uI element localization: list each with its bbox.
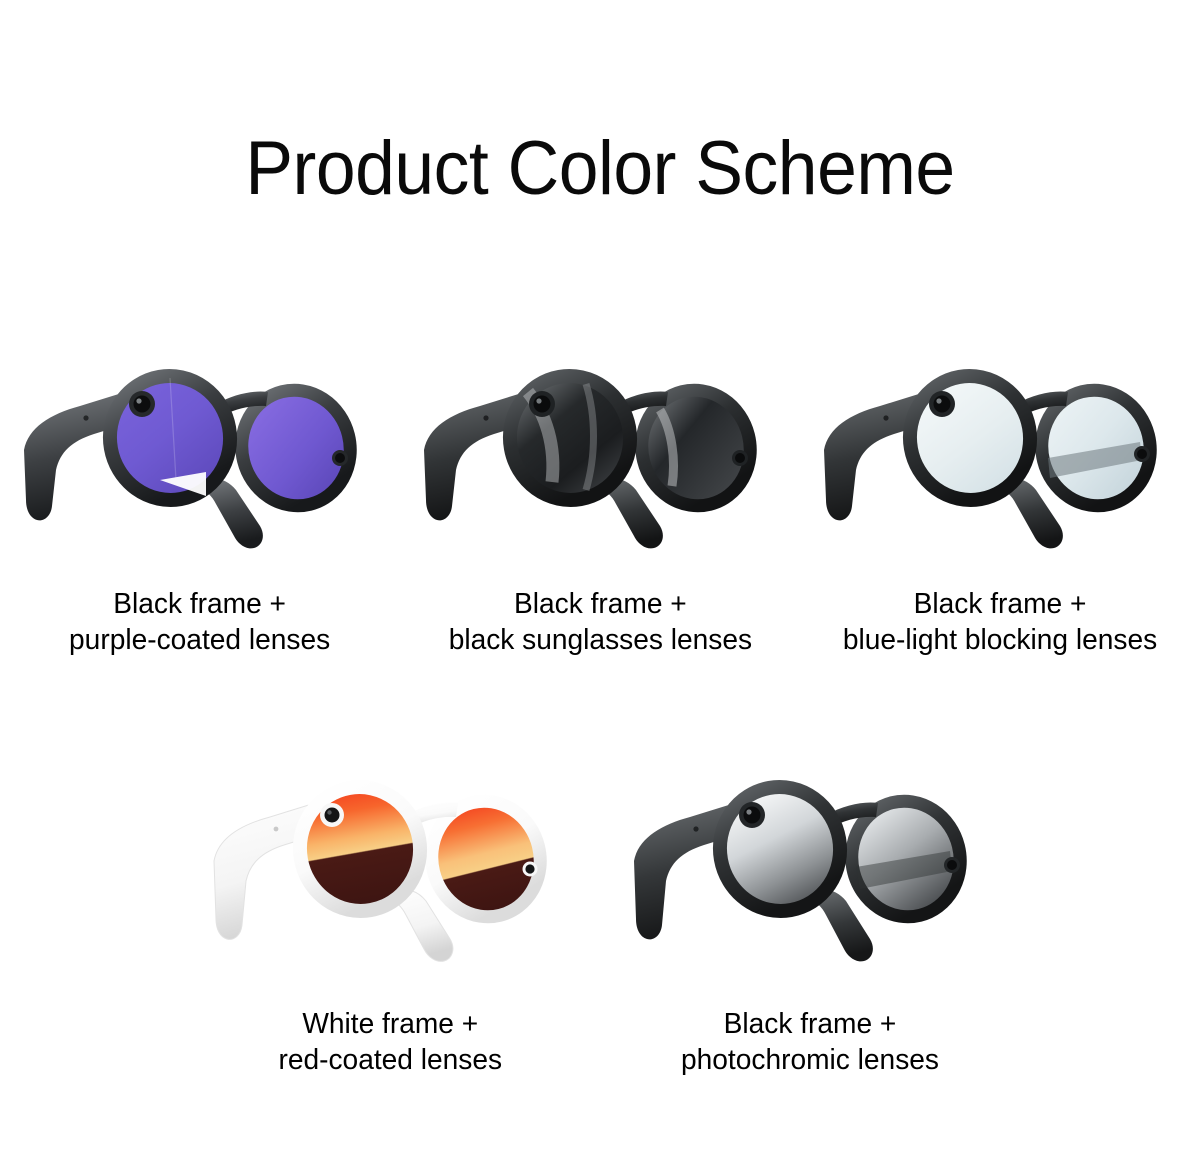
caption-line-2: blue-light blocking lenses (843, 622, 1157, 658)
camera-lens-secondary-icon (525, 864, 534, 873)
camera-lens-icon (744, 807, 761, 824)
camera-glint (327, 810, 331, 814)
product-card-black-photochromic[interactable]: Black frame + photochromic lenses (600, 735, 1020, 1078)
camera-lens-secondary-icon (735, 453, 745, 463)
mic-dot-icon (274, 827, 279, 832)
caption-line-1: White frame + (278, 1006, 502, 1042)
mic-dot-icon (483, 415, 488, 420)
page-title: Product Color Scheme (36, 126, 1164, 212)
camera-lens-icon (934, 396, 951, 413)
caption-line-1: Black frame + (681, 1006, 939, 1042)
product-caption-black-bluelight: Black frame + blue-light blocking lenses (843, 586, 1157, 658)
product-card-black-purple[interactable]: Black frame + purple-coated lenses (0, 330, 400, 658)
caption-line-1: Black frame + (843, 586, 1157, 622)
product-image-white-red (200, 735, 580, 1000)
camera-lens-secondary-icon (1137, 449, 1147, 459)
product-card-black-sunglasses[interactable]: Black frame + black sunglasses lenses (400, 330, 800, 658)
caption-line-1: Black frame + (69, 586, 330, 622)
camera-lens-icon (325, 808, 340, 823)
mic-dot-icon (83, 415, 88, 420)
camera-glint (136, 398, 141, 403)
product-image-black-sunglasses (410, 330, 790, 580)
product-image-black-purple (10, 330, 390, 580)
camera-lens-secondary-icon (335, 453, 345, 463)
product-caption-white-red: White frame + red-coated lenses (278, 1006, 502, 1078)
product-card-white-red[interactable]: White frame + red-coated lenses (180, 735, 600, 1078)
camera-lens-secondary-icon (947, 860, 957, 870)
product-card-black-bluelight[interactable]: Black frame + blue-light blocking lenses (800, 330, 1200, 658)
product-row-top: Black frame + purple-coated lenses (0, 330, 1200, 658)
mic-dot-icon (693, 826, 698, 831)
camera-lens-icon (534, 396, 551, 413)
camera-lens-icon (134, 396, 151, 413)
caption-line-1: Black frame + (448, 586, 751, 622)
caption-line-2: purple-coated lenses (69, 622, 330, 658)
camera-glint (936, 398, 941, 403)
camera-glint (746, 809, 751, 814)
product-caption-black-photochromic: Black frame + photochromic lenses (681, 1006, 939, 1078)
caption-line-2: red-coated lenses (278, 1042, 502, 1078)
product-row-bottom: White frame + red-coated lenses (0, 735, 1200, 1078)
product-caption-black-sunglasses: Black frame + black sunglasses lenses (448, 586, 751, 658)
product-image-black-photochromic (620, 735, 1000, 1000)
caption-line-2: photochromic lenses (681, 1042, 939, 1078)
product-caption-black-purple: Black frame + purple-coated lenses (69, 586, 330, 658)
caption-line-2: black sunglasses lenses (448, 622, 751, 658)
product-image-black-bluelight (810, 330, 1190, 580)
camera-glint (536, 398, 541, 403)
product-color-scheme-page: Product Color Scheme (0, 0, 1200, 1173)
mic-dot-icon (883, 415, 888, 420)
